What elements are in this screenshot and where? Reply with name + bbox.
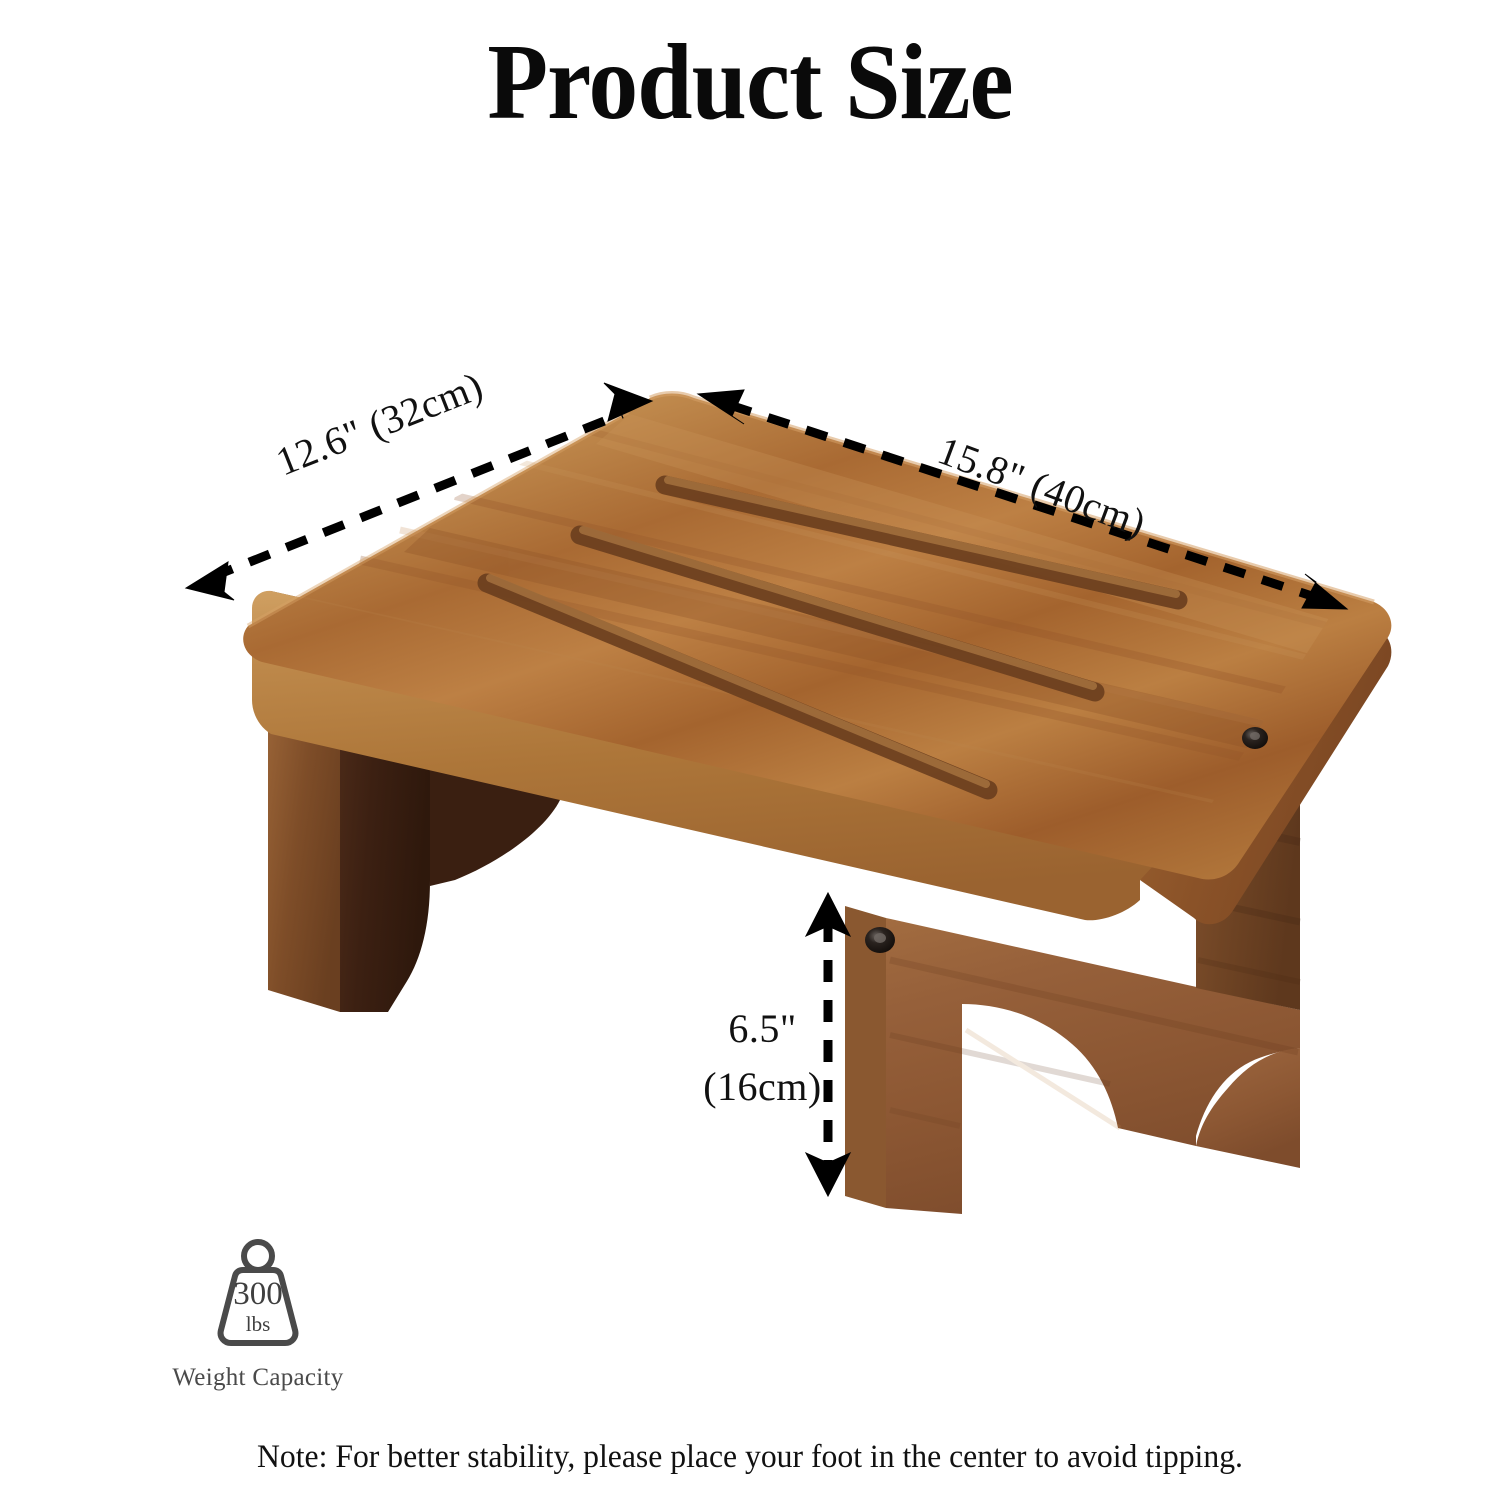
- weight-capacity-unit: lbs: [199, 1314, 317, 1335]
- stability-note: Note: For better stability, please place…: [30, 1439, 1470, 1476]
- height-arrowhead-bottom: [806, 1153, 850, 1196]
- depth-arrowhead-left: [186, 562, 234, 600]
- height-dimension-label: 6.5" (16cm): [700, 1000, 825, 1116]
- weight-icon-handle: [244, 1242, 272, 1270]
- product-size-infographic: Product Size: [0, 0, 1500, 1500]
- height-dimension-inches: 6.5": [700, 1000, 825, 1058]
- height-dimension-cm: (16cm): [700, 1058, 825, 1116]
- weight-icon-wrapper: 300 lbs: [199, 1238, 317, 1350]
- weight-capacity-value: 300: [199, 1278, 317, 1311]
- screw-right: [1242, 727, 1268, 749]
- screw-front: [865, 927, 895, 953]
- weight-capacity-label: Weight Capacity: [158, 1364, 358, 1392]
- weight-capacity-badge: 300 lbs Weight Capacity: [158, 1238, 358, 1392]
